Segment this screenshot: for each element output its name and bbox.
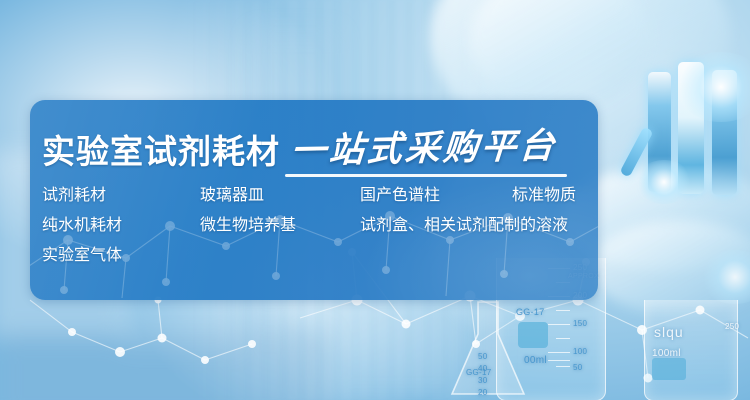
category-item-reference-material[interactable]: 标准物质 — [512, 180, 576, 210]
headline-script-wrap: 一站式采购平台 — [291, 131, 557, 168]
headline-panel: 实验室试剂耗材 一站式采购平台 试剂耗材 玻璃器皿 国产色谱柱 标准物质 纯水机… — [30, 100, 598, 300]
headline-main-text: 实验室试剂耗材 — [42, 135, 280, 168]
right-edge-mark-250: 250 — [725, 322, 739, 331]
right-beaker-label-patch — [652, 358, 686, 380]
beaker-mark-150: 150 — [573, 319, 587, 328]
category-item-domestic-chromatography-column[interactable]: 国产色谱柱 — [360, 180, 440, 210]
flask-mark-50: 50 — [478, 352, 488, 361]
category-item-laboratory-gas[interactable]: 实验室气体 — [42, 240, 122, 270]
erlenmeyer-flask-left — [444, 300, 534, 400]
category-item-microbial-culture-medium[interactable]: 微生物培养基 — [200, 210, 296, 240]
beaker-mark-50: 50 — [573, 363, 583, 372]
category-item-glassware[interactable]: 玻璃器皿 — [200, 180, 264, 210]
category-item-water-purifier-consumables[interactable]: 纯水机耗材 — [42, 210, 122, 240]
category-row: 纯水机耗材 微生物培养基 试剂盒、相关试剂配制的溶液 — [42, 210, 592, 240]
beaker-mark-100: 100 — [573, 347, 587, 356]
headline-block: 实验室试剂耗材 一站式采购平台 — [42, 116, 588, 168]
category-row: 试剂耗材 玻璃器皿 国产色谱柱 标准物质 — [42, 180, 592, 210]
category-item-reagent-kits-solutions[interactable]: 试剂盒、相关试剂配制的溶液 — [360, 210, 568, 240]
flask-brand-gg17: GG-17 — [466, 368, 492, 377]
flask-mark-30: 30 — [478, 376, 488, 385]
category-grid: 试剂耗材 玻璃器皿 国产色谱柱 标准物质 纯水机耗材 微生物培养基 试剂盒、相关… — [42, 180, 592, 270]
beaker-brand-slqu: slqu — [654, 324, 684, 340]
flask-mark-20: 20 — [478, 388, 488, 397]
headline-underline — [285, 174, 567, 177]
category-item-reagent-consumables[interactable]: 试剂耗材 — [42, 180, 106, 210]
category-row: 实验室气体 — [42, 240, 592, 270]
headline-script-text: 一站式采购平台 — [290, 128, 559, 169]
promo-banner: 250 APPROX 200 150 100 50 GG-17 00ml 50 … — [0, 0, 750, 400]
